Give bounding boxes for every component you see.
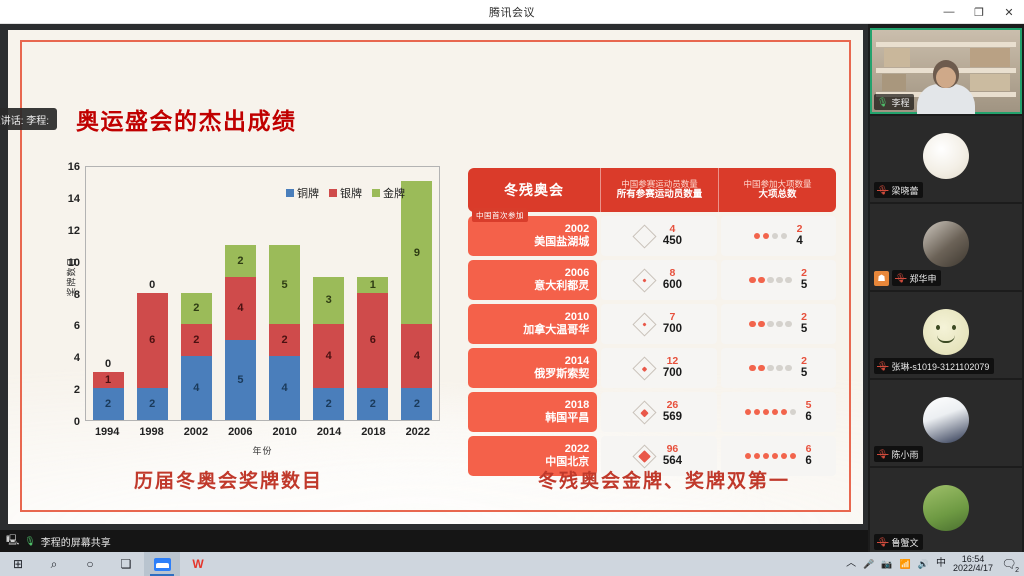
avatar bbox=[923, 309, 969, 355]
event-place: 意大利都灵 bbox=[534, 280, 589, 293]
chart-x-tick: 2006 bbox=[225, 426, 256, 438]
chart-bar-value: 4 bbox=[282, 382, 288, 394]
mic-on-icon: 🎙 bbox=[24, 537, 35, 546]
event-place: 加拿大温哥华 bbox=[523, 324, 589, 337]
discipline-dots bbox=[749, 321, 792, 328]
discipline-dots bbox=[754, 233, 788, 240]
table-row: 2002美国盐湖城445024 bbox=[468, 216, 836, 256]
windows-taskbar[interactable]: ⊞ ⌕ ○ ❏ W ︿ 🎤 📷 📶 🔊 中 16:54 2022/4/17 🗨 … bbox=[0, 552, 1024, 576]
chart-y-tick: 4 bbox=[74, 352, 80, 364]
chart-bar-column: 245 bbox=[225, 167, 256, 420]
chart-plot-area: 0246810121416 铜牌银牌金牌 0120622242455243421… bbox=[85, 166, 440, 421]
chart-x-tick: 2014 bbox=[314, 426, 345, 438]
tray-wifi-icon[interactable]: 📶 bbox=[900, 560, 911, 569]
diamond-icon bbox=[632, 444, 656, 468]
chart-bar-value: 2 bbox=[237, 255, 243, 267]
chart-bar-value: 2 bbox=[326, 398, 332, 410]
legend-label: 铜牌 bbox=[297, 185, 319, 201]
chart-bar-value: 1 bbox=[105, 374, 111, 386]
table-header-row: 冬残奥会 中国参赛运动员数量 所有参赛运动员数量 中国参加大项数量 大项总数 bbox=[468, 168, 836, 212]
event-place: 俄罗斯索契 bbox=[534, 368, 589, 381]
athletes-header-line1: 中国参赛运动员数量 bbox=[621, 179, 698, 190]
participant-name: 鲁蟹文 bbox=[891, 536, 918, 549]
table-row: 2014俄罗斯索契1270025 bbox=[468, 348, 836, 388]
chart-bar-column: 062 bbox=[137, 167, 168, 420]
all-disciplines: 4 bbox=[796, 235, 802, 248]
table-header-athletes: 中国参赛运动员数量 所有参赛运动员数量 bbox=[600, 168, 718, 212]
chart-bar-value: 2 bbox=[105, 398, 111, 410]
all-disciplines: 6 bbox=[805, 411, 811, 424]
video-background-books bbox=[882, 74, 906, 91]
discipline-dot-icon bbox=[763, 409, 770, 416]
chart-bar-value: 2 bbox=[370, 398, 376, 410]
participant-name: 李程 bbox=[891, 96, 909, 109]
chart-legend-item: 金牌 bbox=[372, 185, 405, 201]
table-cell-athletes: 8600 bbox=[601, 260, 716, 300]
cn-disciplines: 5 bbox=[805, 400, 811, 412]
disciplines-fraction: 66 bbox=[805, 444, 811, 468]
chart-bar-value: 0 bbox=[105, 358, 111, 370]
chart-x-tick-labels: 19941998200220062010201420182022 bbox=[85, 426, 440, 438]
first-participation-badge: 中国首次参加 bbox=[472, 208, 528, 222]
all-disciplines: 5 bbox=[801, 323, 807, 336]
chart-bar-value: 0 bbox=[149, 279, 155, 291]
mic-muted-icon: 🎙 bbox=[877, 362, 888, 371]
participant-name-label: 🎙张琳-s1019-3121102079 bbox=[874, 358, 994, 374]
table-row: 2010加拿大温哥华770025 bbox=[468, 304, 836, 344]
cn-athletes: 4 bbox=[663, 224, 682, 236]
event-place: 韩国平昌 bbox=[545, 412, 589, 425]
athletes-fraction: 26569 bbox=[663, 400, 682, 424]
video-background-books bbox=[970, 74, 1010, 91]
diamond-fill bbox=[642, 278, 646, 282]
chart-bar-value: 5 bbox=[282, 279, 288, 291]
chart-bar-segment-silver: 6 bbox=[137, 293, 168, 389]
discipline-dot-icon bbox=[758, 321, 765, 328]
athletes-fraction: 4450 bbox=[663, 224, 682, 248]
presentation-slide: 奥运盛会的杰出成绩 奖牌数目 0246810121416 铜牌银牌金牌 0120… bbox=[8, 30, 863, 524]
cn-athletes: 8 bbox=[663, 268, 682, 280]
taskbar-left: ⊞ ⌕ ○ ❏ W bbox=[0, 552, 216, 576]
taskbar-app-tencent-meeting[interactable] bbox=[144, 552, 180, 576]
notification-count: 2 bbox=[1015, 567, 1019, 574]
chart-bar-column: 224 bbox=[181, 167, 212, 420]
all-athletes: 569 bbox=[663, 411, 682, 424]
meeting-stage: 奥运盛会的杰出成绩 奖牌数目 0246810121416 铜牌银牌金牌 0120… bbox=[0, 24, 1024, 552]
cn-disciplines: 2 bbox=[801, 356, 807, 368]
chart-x-tick: 2010 bbox=[269, 426, 300, 438]
disciplines-fraction: 24 bbox=[796, 224, 802, 248]
chart-bar-value: 5 bbox=[237, 374, 243, 386]
person-body bbox=[917, 84, 975, 114]
cn-disciplines: 2 bbox=[796, 224, 802, 236]
discipline-dot-icon bbox=[772, 409, 779, 416]
chart-x-tick: 2002 bbox=[180, 426, 211, 438]
cn-disciplines: 2 bbox=[801, 268, 807, 280]
chart-x-tick: 1998 bbox=[136, 426, 167, 438]
diamond-fill bbox=[640, 408, 648, 416]
discipline-dots bbox=[749, 365, 792, 372]
legend-swatch-icon bbox=[286, 189, 294, 197]
athletes-fraction: 12700 bbox=[663, 356, 682, 380]
avatar bbox=[923, 397, 969, 443]
table-cell-athletes: 26569 bbox=[601, 392, 716, 432]
table-cell-disciplines: 25 bbox=[721, 260, 836, 300]
discipline-dot-icon bbox=[767, 365, 774, 372]
chart-bar-value: 4 bbox=[414, 350, 420, 362]
chart-bar-value: 6 bbox=[370, 334, 376, 346]
table-header-disciplines: 中国参加大项数量 大项总数 bbox=[718, 168, 836, 212]
discipline-dot-icon bbox=[749, 321, 756, 328]
cortana-icon[interactable]: ○ bbox=[72, 552, 108, 576]
chart-bar-segment-silver: 4 bbox=[225, 277, 256, 341]
athletes-header-line2: 所有参赛运动员数量 bbox=[617, 189, 703, 201]
event-year: 2002 bbox=[565, 223, 589, 236]
table-row: 2006意大利都灵860025 bbox=[468, 260, 836, 300]
chart-bar-segment-silver: 6 bbox=[357, 293, 388, 389]
participant-tile[interactable]: 🎙张琳-s1019-3121102079 bbox=[870, 292, 1022, 378]
tray-volume-icon[interactable]: 🔊 bbox=[918, 560, 929, 569]
discipline-dot-icon bbox=[785, 277, 792, 284]
maximize-button[interactable]: ❐ bbox=[964, 0, 994, 24]
table-cell-disciplines: 24 bbox=[721, 216, 836, 256]
chart-y-tick: 10 bbox=[68, 257, 80, 269]
chart-bar-column: 342 bbox=[313, 167, 344, 420]
disciplines-header-line1: 中国参加大项数量 bbox=[743, 179, 811, 190]
chart-bar-segment-bronze: 2 bbox=[313, 388, 344, 420]
diamond-icon bbox=[632, 224, 656, 248]
video-background-books bbox=[884, 48, 910, 67]
chart-bar-column: 012 bbox=[93, 167, 124, 420]
discipline-dot-icon bbox=[776, 321, 783, 328]
chart-bar-value: 4 bbox=[237, 302, 243, 314]
participant-name-label: 🎙陈小雨 bbox=[874, 446, 923, 462]
discipline-dot-icon bbox=[758, 277, 765, 284]
table-cell-athletes: 7700 bbox=[601, 304, 716, 344]
system-tray: ︿ 🎤 📷 📶 🔊 中 16:54 2022/4/17 🗨 2 bbox=[846, 555, 1024, 574]
discipline-dots bbox=[745, 453, 797, 460]
cn-athletes: 12 bbox=[663, 356, 682, 368]
disciplines-fraction: 25 bbox=[801, 356, 807, 380]
clock-date: 2022/4/17 bbox=[953, 563, 993, 573]
window-controls: — ❐ ✕ bbox=[934, 0, 1024, 24]
chart-y-tick: 12 bbox=[68, 225, 80, 237]
disciplines-fraction: 25 bbox=[801, 268, 807, 292]
discipline-dot-icon bbox=[767, 277, 774, 284]
discipline-dot-icon bbox=[749, 277, 756, 284]
discipline-dot-icon bbox=[790, 409, 797, 416]
chart-bar-column: 942 bbox=[401, 167, 432, 420]
cn-athletes: 96 bbox=[663, 444, 682, 456]
discipline-dot-icon bbox=[749, 365, 756, 372]
event-year: 2018 bbox=[565, 399, 589, 412]
chart-bar-segment-bronze: 5 bbox=[225, 340, 256, 420]
tray-camera-icon[interactable]: 📷 bbox=[881, 560, 892, 569]
chart-bar-segment-silver: 2 bbox=[269, 324, 300, 356]
task-view-icon[interactable]: ❏ bbox=[108, 552, 144, 576]
chart-bar-segment-gold: 3 bbox=[313, 277, 344, 325]
participant-name-label: 🎙梁晓蕾 bbox=[874, 182, 923, 198]
wps-icon: W bbox=[192, 557, 203, 571]
chart-bar-segment-bronze: 4 bbox=[181, 356, 212, 420]
event-year: 2006 bbox=[565, 267, 589, 280]
all-disciplines: 5 bbox=[801, 279, 807, 292]
discipline-dot-icon bbox=[758, 365, 765, 372]
chart-bar-value: 1 bbox=[370, 279, 376, 291]
table-body: 2002美国盐湖城4450242006意大利都灵8600252010加拿大温哥华… bbox=[468, 216, 836, 476]
participant-rail[interactable]: 🎙李程🎙梁晓蕾☗🎙郑华申🎙张琳-s1019-3121102079🎙陈小雨🎙鲁蟹文 bbox=[868, 24, 1024, 552]
chart-bar-value: 2 bbox=[414, 398, 420, 410]
window-titlebar: 腾讯会议 — ❐ ✕ bbox=[0, 0, 1024, 24]
chart-bar-segment-silver: 2 bbox=[181, 324, 212, 356]
discipline-dot-icon bbox=[745, 409, 752, 416]
event-year: 2014 bbox=[565, 355, 589, 368]
close-button[interactable]: ✕ bbox=[994, 0, 1024, 24]
participant-name-label: 🎙郑华申 bbox=[892, 270, 941, 286]
cn-athletes: 7 bbox=[663, 312, 682, 324]
taskbar-app-wps-office[interactable]: W bbox=[180, 552, 216, 576]
table-cell-event: 2014俄罗斯索契 bbox=[468, 348, 597, 388]
participant-tile[interactable]: 🎙陈小雨 bbox=[870, 380, 1022, 466]
chart-bar-value: 4 bbox=[326, 350, 332, 362]
mic-muted-icon: 🎙 bbox=[877, 186, 888, 195]
avatar bbox=[923, 485, 969, 531]
all-athletes: 450 bbox=[663, 235, 682, 248]
participant-name: 张琳-s1019-3121102079 bbox=[891, 360, 989, 373]
chart-bar-segment-gold: 5 bbox=[269, 245, 300, 325]
chart-bar-segment-silver: 1 bbox=[93, 372, 124, 388]
chart-y-tick: 8 bbox=[74, 289, 80, 301]
host-badge-icon: ☗ bbox=[874, 271, 889, 286]
participant-tile[interactable]: ☗🎙郑华申 bbox=[870, 204, 1022, 290]
chart-x-axis-label: 年份 bbox=[85, 444, 440, 457]
disciplines-header-line2: 大项总数 bbox=[758, 189, 796, 201]
discipline-dot-icon bbox=[785, 321, 792, 328]
discipline-dot-icon bbox=[790, 453, 797, 460]
diamond-icon bbox=[632, 312, 656, 336]
participant-tile[interactable]: 🎙鲁蟹文 bbox=[870, 468, 1022, 554]
table-cell-event: 2018韩国平昌 bbox=[468, 392, 597, 432]
participant-name: 梁晓蕾 bbox=[891, 184, 918, 197]
discipline-dot-icon bbox=[785, 365, 792, 372]
discipline-dot-icon bbox=[754, 453, 761, 460]
event-year: 2022 bbox=[565, 443, 589, 456]
chart-legend-item: 银牌 bbox=[329, 185, 362, 201]
chart-bar-segment-gold: 1 bbox=[357, 277, 388, 293]
table-cell-disciplines: 56 bbox=[721, 392, 836, 432]
table-cell-athletes: 4450 bbox=[601, 216, 716, 256]
diamond-icon bbox=[632, 356, 656, 380]
chart-bar-segment-bronze: 2 bbox=[93, 388, 124, 420]
legend-label: 银牌 bbox=[340, 185, 362, 201]
chart-bar-segment-bronze: 2 bbox=[137, 388, 168, 420]
participant-name: 陈小雨 bbox=[891, 448, 918, 461]
screen-share-icon: 🖳 bbox=[6, 536, 19, 546]
discipline-dot-icon bbox=[754, 409, 761, 416]
chart-bar-value: 6 bbox=[149, 334, 155, 346]
chart-bar-value: 3 bbox=[326, 294, 332, 306]
discipline-dot-icon bbox=[763, 233, 770, 240]
discipline-dot-icon bbox=[781, 233, 788, 240]
table-cell-event: 2010加拿大温哥华 bbox=[468, 304, 597, 344]
table-header-event: 冬残奥会 bbox=[468, 168, 600, 212]
tray-microphone-icon[interactable]: 🎤 bbox=[863, 560, 874, 569]
table-cell-athletes: 12700 bbox=[601, 348, 716, 388]
speaking-indicator-tooltip: 🎙正在讲话: 李程: bbox=[0, 108, 57, 130]
avatar bbox=[923, 221, 969, 267]
chart-bar-value: 2 bbox=[193, 302, 199, 314]
chart-bar-value: 2 bbox=[149, 398, 155, 410]
chart-bar-value: 2 bbox=[193, 334, 199, 346]
participant-tile[interactable]: 🎙梁晓蕾 bbox=[870, 116, 1022, 202]
diamond-icon bbox=[632, 400, 656, 424]
chart-y-tick: 16 bbox=[68, 161, 80, 173]
chart-bar-segment-bronze: 2 bbox=[401, 388, 432, 420]
chart-bar-segment-bronze: 2 bbox=[357, 388, 388, 420]
all-athletes: 600 bbox=[663, 279, 682, 292]
screen-share-bar: 🖳 🎙 李程的屏幕共享 bbox=[0, 530, 868, 552]
diamond-fill bbox=[638, 450, 651, 463]
minimize-button[interactable]: — bbox=[934, 0, 964, 24]
tray-chevron-icon[interactable]: ︿ bbox=[846, 559, 856, 569]
search-icon[interactable]: ⌕ bbox=[36, 552, 72, 576]
discipline-dot-icon bbox=[772, 233, 779, 240]
mic-on-icon: 🎙 bbox=[877, 98, 888, 107]
notifications-icon[interactable]: 🗨 2 bbox=[1000, 555, 1018, 573]
caption-left: 历届冬奥会奖牌数目 bbox=[134, 466, 323, 493]
avatar bbox=[923, 133, 969, 179]
table-cell-event: 2002美国盐湖城 bbox=[468, 216, 597, 256]
caption-right: 冬残奥会金牌、奖牌双第一 bbox=[538, 466, 790, 493]
taskbar-clock[interactable]: 16:54 2022/4/17 bbox=[953, 555, 993, 574]
chart-y-tick: 2 bbox=[74, 384, 80, 396]
chart-legend: 铜牌银牌金牌 bbox=[286, 185, 405, 201]
chart-bar-value: 4 bbox=[193, 382, 199, 394]
table-cell-event: 2006意大利都灵 bbox=[468, 260, 597, 300]
chart-y-tick: 6 bbox=[74, 320, 80, 332]
all-disciplines: 6 bbox=[805, 455, 811, 468]
chart-bar-value: 2 bbox=[282, 334, 288, 346]
discipline-dot-icon bbox=[754, 233, 761, 240]
discipline-dots bbox=[749, 277, 792, 284]
slide-title: 奥运盛会的杰出成绩 bbox=[76, 102, 297, 136]
shared-screen-area[interactable]: 奥运盛会的杰出成绩 奖牌数目 0246810121416 铜牌银牌金牌 0120… bbox=[0, 24, 868, 530]
cn-disciplines: 2 bbox=[801, 312, 807, 324]
chart-bar-column: 162 bbox=[357, 167, 388, 420]
chart-bar-column: 524 bbox=[269, 167, 300, 420]
table-cell-disciplines: 25 bbox=[721, 304, 836, 344]
discipline-dots bbox=[745, 409, 797, 416]
disciplines-fraction: 25 bbox=[801, 312, 807, 336]
discipline-dot-icon bbox=[776, 277, 783, 284]
chart-bar-segment-gold: 2 bbox=[181, 293, 212, 325]
participant-name-label: 🎙鲁蟹文 bbox=[874, 534, 923, 550]
event-year: 2010 bbox=[565, 311, 589, 324]
discipline-dot-icon bbox=[781, 409, 788, 416]
discipline-dot-icon bbox=[772, 453, 779, 460]
chart-x-tick: 1994 bbox=[92, 426, 123, 438]
chart-x-tick: 2022 bbox=[402, 426, 433, 438]
discipline-dot-icon bbox=[781, 453, 788, 460]
chart-legend-item: 铜牌 bbox=[286, 185, 319, 201]
diamond-icon bbox=[632, 268, 656, 292]
chart-y-tick: 0 bbox=[74, 416, 80, 428]
chart-y-tick: 14 bbox=[68, 193, 80, 205]
chart-x-tick: 2018 bbox=[358, 426, 389, 438]
medal-bar-chart: 奖牌数目 0246810121416 铜牌银牌金牌 01206222424552… bbox=[38, 158, 448, 458]
chart-bars: 012062224245524342162942 bbox=[86, 167, 439, 420]
person-face bbox=[936, 67, 956, 88]
event-place: 美国盐湖城 bbox=[534, 236, 589, 249]
chart-y-axis-label: 奖牌数目 bbox=[65, 242, 78, 312]
chart-bar-segment-silver: 4 bbox=[401, 324, 432, 388]
discipline-dot-icon bbox=[767, 321, 774, 328]
video-background-books bbox=[970, 48, 1010, 67]
diamond-fill bbox=[642, 322, 646, 326]
tray-ime-icon[interactable]: 中 bbox=[936, 559, 946, 569]
athletes-fraction: 8600 bbox=[663, 268, 682, 292]
chart-bar-segment-bronze: 4 bbox=[269, 356, 300, 420]
all-athletes: 700 bbox=[663, 323, 682, 336]
participant-video-person bbox=[917, 60, 975, 114]
diamond-fill bbox=[642, 365, 648, 371]
legend-swatch-icon bbox=[329, 189, 337, 197]
disciplines-fraction: 56 bbox=[805, 400, 811, 424]
discipline-dot-icon bbox=[763, 453, 770, 460]
athletes-fraction: 96564 bbox=[663, 444, 682, 468]
all-disciplines: 5 bbox=[801, 367, 807, 380]
chart-bar-segment-silver: 4 bbox=[313, 324, 344, 388]
table-cell-disciplines: 25 bbox=[721, 348, 836, 388]
start-button[interactable]: ⊞ bbox=[0, 552, 36, 576]
window-title: 腾讯会议 bbox=[489, 4, 535, 20]
share-bar-label: 李程的屏幕共享 bbox=[41, 534, 111, 549]
mic-muted-icon: 🎙 bbox=[877, 450, 888, 459]
discipline-dot-icon bbox=[776, 365, 783, 372]
discipline-dot-icon bbox=[745, 453, 752, 460]
mic-muted-icon: 🎙 bbox=[895, 274, 906, 283]
participant-name-label: 🎙李程 bbox=[874, 94, 914, 110]
chart-bar-segment-gold: 2 bbox=[225, 245, 256, 277]
video-background-shelf bbox=[876, 42, 1016, 47]
athletes-fraction: 7700 bbox=[663, 312, 682, 336]
paralympics-table: 冬残奥会 中国参赛运动员数量 所有参赛运动员数量 中国参加大项数量 大项总数 中… bbox=[468, 168, 836, 476]
cn-athletes: 26 bbox=[663, 400, 682, 412]
mic-muted-icon: 🎙 bbox=[877, 538, 888, 547]
all-athletes: 700 bbox=[663, 367, 682, 380]
participant-name: 郑华申 bbox=[909, 272, 936, 285]
chart-bar-segment-gold: 9 bbox=[401, 181, 432, 324]
chart-bar-value: 9 bbox=[414, 247, 420, 259]
speaking-tip-label: 正在讲话: 李程: bbox=[0, 112, 49, 127]
legend-label: 金牌 bbox=[383, 185, 405, 201]
legend-swatch-icon bbox=[372, 189, 380, 197]
participant-tile[interactable]: 🎙李程 bbox=[870, 28, 1022, 114]
table-row: 2018韩国平昌2656956 bbox=[468, 392, 836, 432]
cn-disciplines: 6 bbox=[805, 444, 811, 456]
